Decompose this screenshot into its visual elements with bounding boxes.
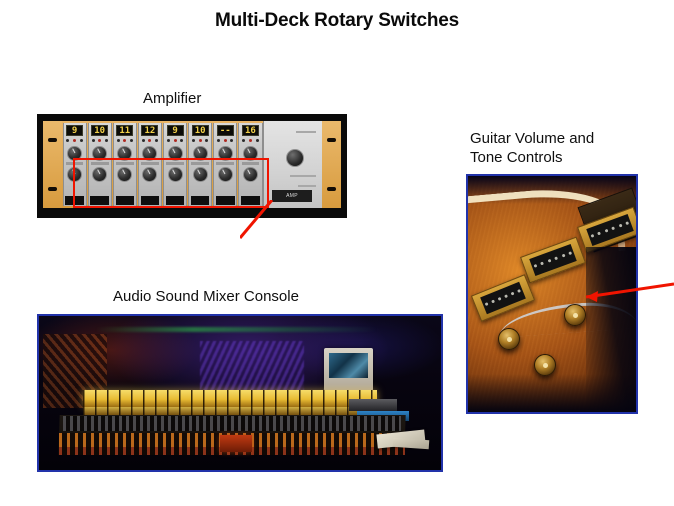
rotary-knob[interactable] xyxy=(142,146,157,161)
pole-piece xyxy=(541,262,545,266)
channel-indicator-row xyxy=(240,138,260,143)
indicator-dot xyxy=(148,139,151,142)
pole-piece xyxy=(612,227,616,231)
master-label-line xyxy=(290,175,316,177)
rotary-knob[interactable] xyxy=(168,167,183,182)
indicator-dot xyxy=(92,139,95,142)
console-rotary-knob-field[interactable] xyxy=(63,416,401,431)
guitar-tone-knob[interactable] xyxy=(498,328,520,350)
page-title: Multi-Deck Rotary Switches xyxy=(0,10,674,32)
channel-knob-row-upper xyxy=(164,146,186,161)
channel-knob-row-lower xyxy=(89,167,111,182)
console-meter-bridge xyxy=(83,390,376,407)
indicator-dot xyxy=(66,139,69,142)
indicator-dot xyxy=(256,139,259,142)
channel-knob-row-lower xyxy=(64,167,86,182)
rotary-knob[interactable] xyxy=(218,167,233,182)
knob-label xyxy=(66,162,84,165)
rotary-knob[interactable] xyxy=(67,167,82,182)
guitar-photo xyxy=(466,174,638,414)
channel-knob-row-lower xyxy=(189,167,211,182)
indicator-dot xyxy=(73,139,76,142)
channel-knob-row-lower xyxy=(164,167,186,182)
master-label-line xyxy=(296,131,316,133)
channel-name-window xyxy=(216,196,235,205)
amplifier-channel-strip[interactable]: 11 xyxy=(113,123,137,206)
channel-knob-row-lower xyxy=(214,167,236,182)
rotary-knob[interactable] xyxy=(243,146,258,161)
console-meter-bridge-lower xyxy=(83,407,376,415)
amplifier-master-section[interactable]: AMP xyxy=(263,121,322,208)
channel-name-window xyxy=(241,196,260,205)
indicator-dot xyxy=(199,139,202,142)
console-patch-panel xyxy=(349,399,397,411)
indicator-dot xyxy=(205,139,208,142)
rotary-knob[interactable] xyxy=(218,146,233,161)
rotary-knob[interactable] xyxy=(193,167,208,182)
mixer-console-photo xyxy=(37,314,443,472)
photo-shadow-bottom xyxy=(468,374,636,412)
amplifier-channel-strip[interactable]: 10 xyxy=(188,123,212,206)
channel-knob-row-upper xyxy=(89,146,111,161)
knob-label xyxy=(166,162,184,165)
channel-knob-row-upper xyxy=(139,146,161,161)
rotary-knob[interactable] xyxy=(168,146,183,161)
console-center-section[interactable] xyxy=(220,435,252,452)
indicator-dot xyxy=(155,139,158,142)
channel-led-display: 10 xyxy=(91,125,108,136)
channel-knob-row-upper xyxy=(64,146,86,161)
indicator-dot xyxy=(130,139,133,142)
indicator-dot xyxy=(105,139,108,142)
pole-piece xyxy=(568,252,572,256)
amplifier-channel-strip[interactable]: 9 xyxy=(63,123,87,206)
master-rotary-knob[interactable] xyxy=(286,149,304,167)
indicator-dot xyxy=(123,139,126,142)
channel-knob-row-lower xyxy=(114,167,136,182)
channel-led-display: 16 xyxy=(242,125,259,136)
channel-indicator-row xyxy=(115,138,135,143)
pole-piece xyxy=(605,229,609,233)
channel-knob-row-upper xyxy=(189,146,211,161)
master-label-line xyxy=(298,185,316,187)
knob-label xyxy=(216,162,234,165)
pole-piece xyxy=(561,254,565,258)
guitar-volume-knob[interactable] xyxy=(564,304,586,326)
channel-knob-row-lower xyxy=(139,167,161,182)
indicator-dot xyxy=(167,139,170,142)
channel-led-display: 11 xyxy=(116,125,133,136)
bridge-saddle xyxy=(498,297,502,301)
channel-indicator-row xyxy=(215,138,235,143)
rotary-knob[interactable] xyxy=(67,146,82,161)
amplifier-channel-strip[interactable]: 10 xyxy=(88,123,112,206)
channel-led-display: 10 xyxy=(192,125,209,136)
meter-ticks xyxy=(83,407,376,415)
indicator-dot xyxy=(174,139,177,142)
channel-indicator-row xyxy=(190,138,210,143)
indicator-dot xyxy=(192,139,195,142)
brand-badge: AMP xyxy=(272,190,312,202)
channel-indicator-row xyxy=(140,138,160,143)
pole-piece xyxy=(591,234,595,238)
rotary-knob[interactable] xyxy=(92,167,107,182)
studio-crt-monitor xyxy=(324,348,372,391)
indicator-dot xyxy=(180,139,183,142)
indicator-dot xyxy=(80,139,83,142)
pole-piece xyxy=(555,257,559,261)
knob-label xyxy=(141,162,159,165)
rack-screw-hole xyxy=(48,187,57,191)
channel-knob-row-upper xyxy=(114,146,136,161)
rack-ear-right xyxy=(322,121,341,208)
rack-screw-hole xyxy=(327,138,336,142)
pole-piece xyxy=(548,259,552,263)
rack-screw-hole xyxy=(327,187,336,191)
indicator-dot xyxy=(117,139,120,142)
channel-name-window xyxy=(191,196,210,205)
rotary-knob[interactable] xyxy=(117,146,132,161)
rotary-knob[interactable] xyxy=(142,167,157,182)
channel-knob-row-upper xyxy=(214,146,236,161)
indicator-dot xyxy=(217,139,220,142)
guitar-selector-knob[interactable] xyxy=(534,354,556,376)
green-light-beam xyxy=(95,327,376,332)
channel-led-display: -- xyxy=(217,125,234,136)
amplifier-caption: Amplifier xyxy=(143,90,201,109)
amplifier-channel-strip[interactable]: -- xyxy=(213,123,237,206)
mixer-caption: Audio Sound Mixer Console xyxy=(113,288,299,307)
amplifier-rack-faceplate: 9 10 xyxy=(43,121,341,208)
bridge-saddle xyxy=(511,292,515,296)
knob-label xyxy=(91,162,109,165)
indicator-dot xyxy=(230,139,233,142)
channel-name-window xyxy=(141,196,160,205)
channel-name-window xyxy=(116,196,135,205)
channel-knob-row-lower xyxy=(239,167,261,182)
pole-piece xyxy=(625,222,629,226)
rotary-knob[interactable] xyxy=(92,146,107,161)
rack-ear-left xyxy=(43,121,62,208)
bridge-saddle xyxy=(504,295,508,299)
indicator-dot xyxy=(242,139,245,142)
channel-indicator-row xyxy=(65,138,85,143)
channel-indicator-row xyxy=(90,138,110,143)
bridge-saddle xyxy=(485,303,489,307)
pole-piece xyxy=(618,224,622,228)
monitor-screen xyxy=(329,353,369,378)
indicator-dot xyxy=(249,139,252,142)
indicator-dot xyxy=(98,139,101,142)
rack-screw-hole xyxy=(48,138,57,142)
knob-label xyxy=(116,162,134,165)
indicator-dot xyxy=(224,139,227,142)
channel-name-window xyxy=(65,196,84,205)
channel-led-display: 9 xyxy=(66,125,83,136)
indicator-dot xyxy=(142,139,145,142)
amplifier-channel-strip[interactable]: 9 xyxy=(163,123,187,206)
bridge-saddle xyxy=(491,300,495,304)
knob-label xyxy=(191,162,209,165)
pole-piece xyxy=(534,264,538,268)
meter-ticks xyxy=(83,390,376,407)
amplifier-photo: 9 10 xyxy=(37,114,347,218)
pole-piece xyxy=(598,232,602,236)
channel-name-window xyxy=(90,196,109,205)
rotary-knob[interactable] xyxy=(117,167,132,182)
amplifier-channel-strip[interactable]: 16 xyxy=(238,123,262,206)
channel-led-display: 9 xyxy=(167,125,184,136)
channel-name-window xyxy=(166,196,185,205)
rotary-knob[interactable] xyxy=(243,167,258,182)
amplifier-channel-strips: 9 10 xyxy=(62,121,263,208)
rotary-knob[interactable] xyxy=(193,146,208,161)
bridge-saddle xyxy=(517,289,521,293)
guitar-caption: Guitar Volume and Tone Controls xyxy=(470,130,594,168)
channel-indicator-row xyxy=(165,138,185,143)
knob-label xyxy=(242,162,260,165)
channel-knob-row-upper xyxy=(239,146,261,161)
studio-acoustic-panel xyxy=(200,341,305,393)
amplifier-channel-strip[interactable]: 12 xyxy=(138,123,162,206)
channel-led-display: 12 xyxy=(141,125,158,136)
